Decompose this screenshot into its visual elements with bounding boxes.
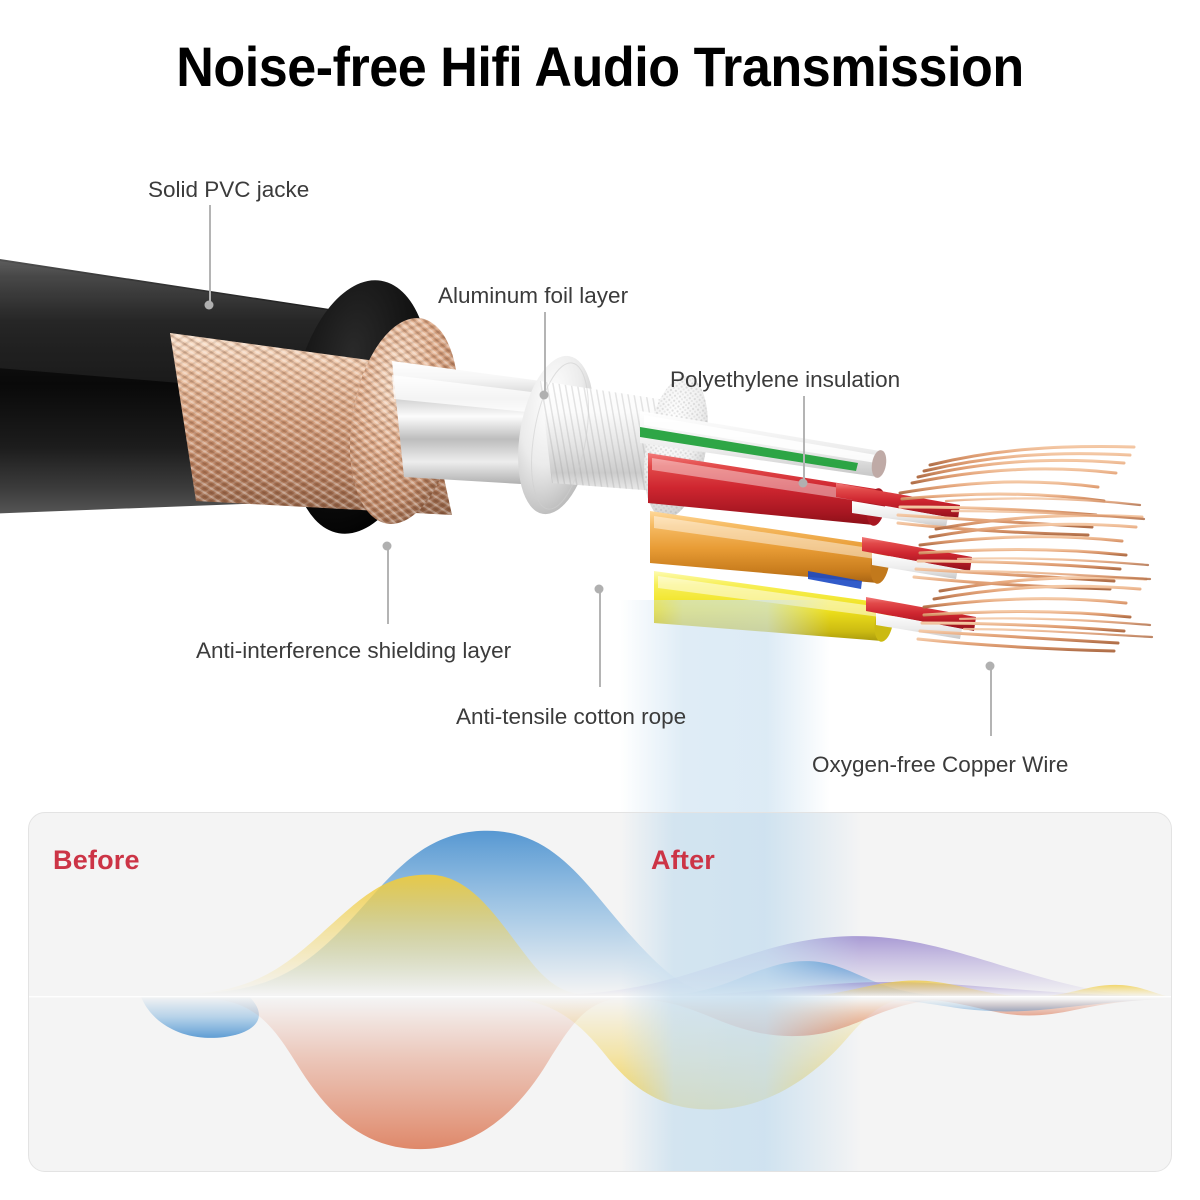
callout-label-shielding-layer: Anti-interference shielding layer — [196, 637, 511, 664]
waveform-chart — [29, 813, 1171, 1171]
callout-leader-polyethylene — [803, 396, 805, 483]
after-label: After — [651, 845, 715, 876]
callout-dot-aluminum-foil — [540, 391, 549, 400]
wave-baseline — [29, 996, 1171, 997]
callout-dot-copper-wire — [986, 662, 995, 671]
page-title: Noise-free Hifi Audio Transmission — [42, 34, 1158, 99]
callout-label-aluminum-foil: Aluminum foil layer — [438, 282, 628, 309]
wave-blue-after-2 — [868, 999, 1171, 1011]
before-label: Before — [53, 845, 140, 876]
callout-dot-pvc-jacket — [205, 301, 214, 310]
infographic-canvas: Noise-free Hifi Audio Transmission — [0, 0, 1200, 1200]
wave-red-lower — [197, 998, 624, 1149]
callout-dot-shielding-layer — [383, 542, 392, 551]
callout-dot-polyethylene — [799, 479, 808, 488]
callout-label-copper-wire: Oxygen-free Copper Wire — [812, 751, 1068, 778]
callout-label-cotton-rope: Anti-tensile cotton rope — [456, 703, 686, 730]
callout-leader-aluminum-foil — [544, 312, 546, 395]
callout-leader-pvc-jacket — [209, 205, 211, 305]
before-after-panel: Before After — [28, 812, 1172, 1172]
callout-label-polyethylene: Polyethylene insulation — [670, 366, 900, 393]
callout-leader-cotton-rope — [599, 589, 601, 687]
callout-leader-shielding-layer — [387, 546, 389, 624]
callout-label-pvc-jacket: Solid PVC jacke — [148, 176, 309, 203]
callout-leader-copper-wire — [990, 666, 992, 736]
callout-dot-cotton-rope — [595, 585, 604, 594]
